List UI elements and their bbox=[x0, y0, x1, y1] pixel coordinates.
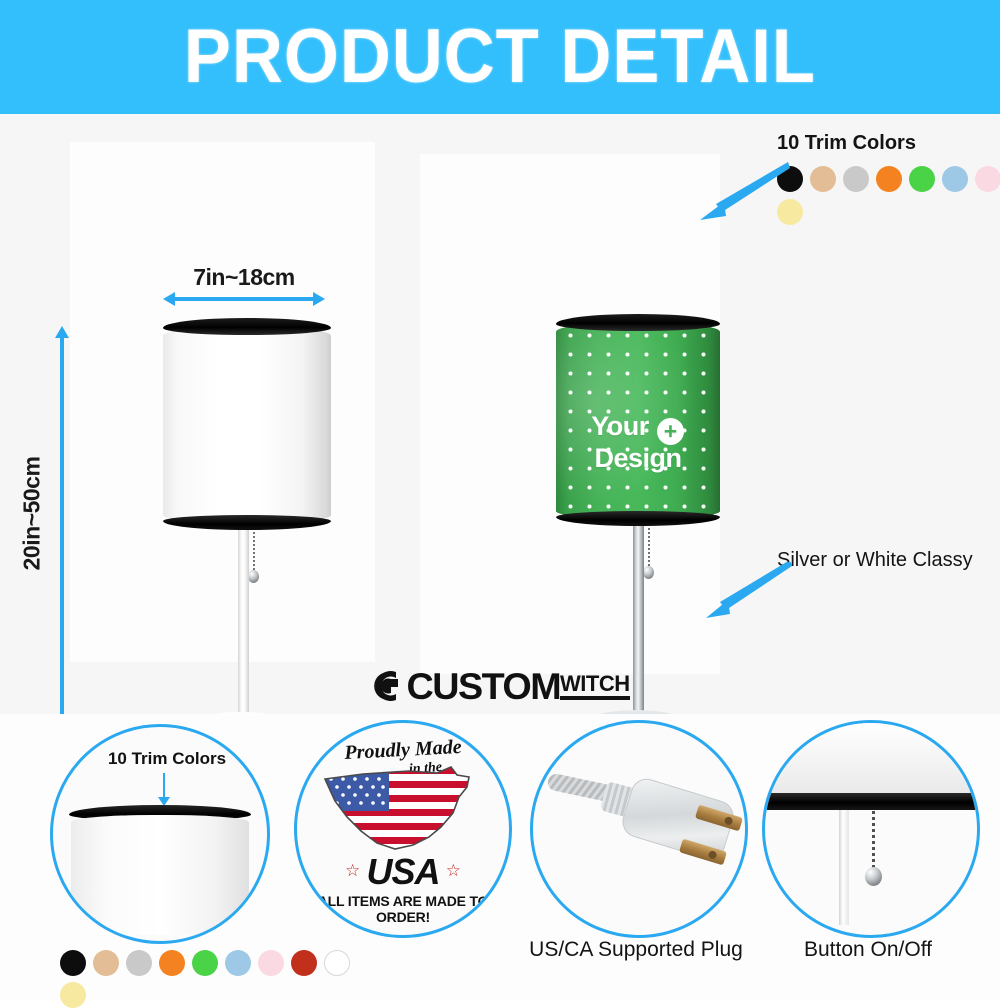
your-design-text: Your + Design bbox=[556, 413, 720, 471]
usa-star-left-icon: ☆ bbox=[345, 861, 360, 881]
trim-colors-callout-label: 10 Trim Colors bbox=[777, 132, 916, 155]
trim-colors-card: 10 Trim Colors bbox=[50, 724, 270, 944]
trim-swatch-dark-red[interactable] bbox=[291, 950, 317, 976]
trim-swatch-light-blue[interactable] bbox=[225, 950, 251, 976]
bottom-swatch-row-1 bbox=[60, 950, 350, 976]
trim-swatch-yellow[interactable] bbox=[60, 982, 86, 1008]
usa-wordmark: USA bbox=[297, 851, 509, 893]
pull-chain[interactable] bbox=[253, 532, 255, 574]
button-card-caption: Button On/Off bbox=[732, 938, 1000, 962]
trim-colors-pointer-arrow bbox=[690, 162, 800, 228]
shade-trim-bottom bbox=[556, 511, 720, 526]
plus-badge-icon: + bbox=[657, 418, 684, 445]
trim-arrow-shaft bbox=[163, 773, 165, 799]
bottom-swatch-row-2 bbox=[60, 982, 86, 1008]
logo-secondary-wrap: WITCH bbox=[560, 673, 630, 700]
trim-swatch-green[interactable] bbox=[192, 950, 218, 976]
trim-swatch-light-blue[interactable] bbox=[942, 166, 968, 192]
trim-swatch-orange[interactable] bbox=[159, 950, 185, 976]
pole-closeup bbox=[839, 810, 849, 925]
button-card bbox=[762, 720, 980, 938]
shade-trim-bottom bbox=[163, 515, 331, 530]
usa-star-right-icon: ☆ bbox=[446, 861, 461, 881]
trim-swatch-gray[interactable] bbox=[843, 166, 869, 192]
shade-body-closeup bbox=[71, 815, 249, 935]
trim-closeup bbox=[767, 793, 980, 810]
usa-subtitle: ALL ITEMS ARE MADE TO ORDER! bbox=[297, 893, 509, 925]
width-dimension-label: 7in~18cm bbox=[168, 264, 320, 291]
trim-swatch-pink[interactable] bbox=[975, 166, 1000, 192]
pull-chain-closeup[interactable] bbox=[872, 811, 875, 869]
pull-chain-ball[interactable] bbox=[643, 566, 654, 579]
logo-c-swirl-icon bbox=[370, 667, 410, 705]
plug-card bbox=[530, 720, 748, 938]
product-detail-infographic: PRODUCT DETAIL 7in~18cm 20in~50cm bbox=[0, 0, 1000, 1000]
trim-swatch-gray[interactable] bbox=[126, 950, 152, 976]
trim-swatch-tan[interactable] bbox=[810, 166, 836, 192]
logo-primary-text: CUSTOM bbox=[407, 668, 561, 705]
height-dimension-label: 20in~50cm bbox=[19, 439, 46, 589]
page-title: PRODUCT DETAIL bbox=[184, 19, 816, 95]
shade-body bbox=[163, 326, 331, 523]
logo-secondary-text: WITCH bbox=[560, 673, 630, 695]
main-showcase-panel: 7in~18cm 20in~50cm bbox=[0, 114, 1000, 714]
shade-closeup bbox=[765, 723, 977, 797]
trim-swatch-orange[interactable] bbox=[876, 166, 902, 192]
trim-swatch-green[interactable] bbox=[909, 166, 935, 192]
width-dimension-arrow bbox=[163, 292, 325, 306]
base-finish-pointer-arrow bbox=[700, 562, 800, 624]
logo-underline bbox=[560, 696, 630, 700]
base-finish-callout-label: Silver or White Classy bbox=[777, 549, 973, 572]
design-line-1: Your bbox=[591, 411, 649, 441]
shade-trim-top bbox=[556, 314, 720, 331]
features-strip: 10 Trim Colors Proudly Made in the bbox=[0, 714, 1000, 1000]
pull-chain[interactable] bbox=[648, 528, 650, 570]
header-banner: PRODUCT DETAIL bbox=[0, 0, 1000, 114]
pull-chain-ball-closeup[interactable] bbox=[865, 867, 882, 886]
usa-flag-map-icon bbox=[317, 757, 487, 855]
trim-colors-card-label: 10 Trim Colors bbox=[97, 749, 237, 769]
trim-swatch-tan[interactable] bbox=[93, 950, 119, 976]
lamp-shade-white bbox=[163, 318, 331, 530]
pull-chain-ball[interactable] bbox=[248, 570, 259, 583]
made-in-usa-card: Proudly Made in the bbox=[294, 720, 512, 938]
trim-swatch-white[interactable] bbox=[324, 950, 350, 976]
trim-colors-swatch-row-top bbox=[777, 166, 1000, 192]
design-line-2: Design bbox=[556, 445, 720, 471]
shade-trim-top bbox=[163, 318, 331, 335]
shade-body: Your + Design bbox=[556, 322, 720, 519]
trim-swatch-pink[interactable] bbox=[258, 950, 284, 976]
trim-swatch-black[interactable] bbox=[60, 950, 86, 976]
brand-logo: CUSTOM WITCH bbox=[0, 662, 1000, 710]
lamp-shade-green: Your + Design bbox=[556, 314, 720, 526]
